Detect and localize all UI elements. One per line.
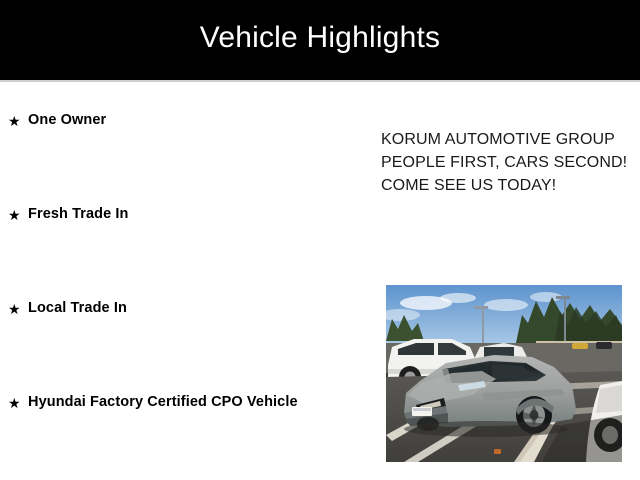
vehicle-highlights-list: ★ One Owner ★ Fresh Trade In ★ Local Tra…: [8, 110, 348, 480]
star-icon: ★: [8, 298, 28, 319]
page-title: Vehicle Highlights: [0, 0, 640, 80]
list-item: ★ One Owner: [8, 110, 348, 204]
header-divider: [0, 80, 640, 82]
list-item: ★ Fresh Trade In: [8, 204, 348, 298]
vehicle-photo-image: [386, 285, 622, 462]
star-icon: ★: [8, 204, 28, 225]
slide-canvas: Vehicle Highlights ★ One Owner ★ Fresh T…: [0, 0, 640, 480]
vehicle-photo: [386, 285, 622, 462]
star-icon: ★: [8, 110, 28, 131]
list-item: ★ Hyundai Factory Certified CPO Vehicle: [8, 392, 348, 480]
star-icon: ★: [8, 392, 28, 413]
dealer-message: KORUM AUTOMOTIVE GROUP PEOPLE FIRST, CAR…: [381, 128, 631, 197]
highlight-label: One Owner: [28, 110, 308, 130]
highlight-label: Fresh Trade In: [28, 204, 308, 224]
list-item: ★ Local Trade In: [8, 298, 348, 392]
highlight-label: Hyundai Factory Certified CPO Vehicle: [28, 392, 308, 412]
highlight-label: Local Trade In: [28, 298, 308, 318]
